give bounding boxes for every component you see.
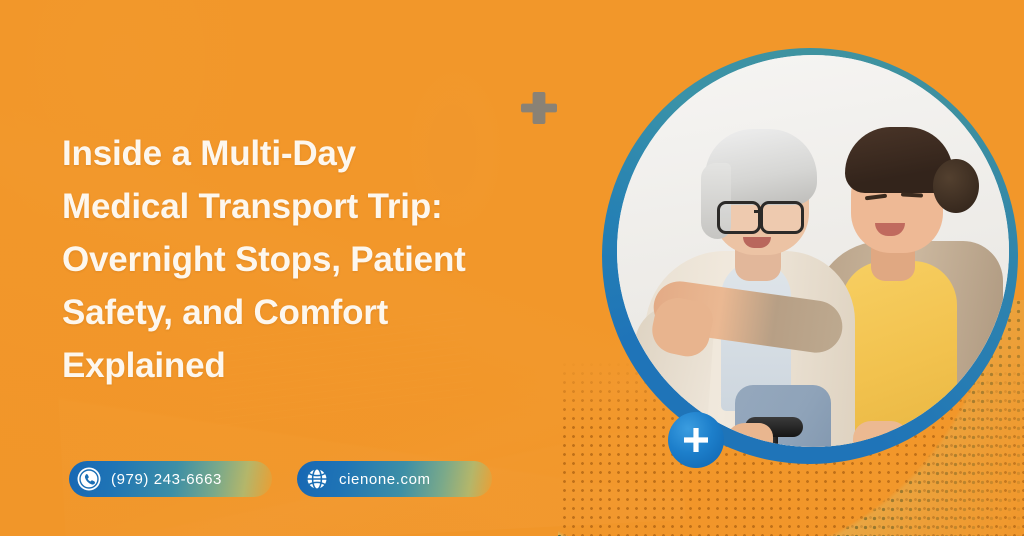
caregiver-and-senior-woman-photo xyxy=(617,55,1009,447)
eyeglass-lens-right xyxy=(760,201,804,234)
globe-icon xyxy=(304,466,330,492)
page-title: Inside a Multi-Day Medical Transport Tri… xyxy=(62,127,582,392)
contact-phone-label: (979) 243-6663 xyxy=(111,471,222,488)
plus-badge xyxy=(668,412,724,468)
young-woman-hair-bun xyxy=(933,159,979,213)
eyeglass-lens-left xyxy=(717,201,761,234)
contact-website-label: cienone.com xyxy=(339,471,431,488)
young-woman-top xyxy=(841,261,957,445)
joined-hands xyxy=(853,421,909,447)
senior-woman-hand-on-cane xyxy=(725,423,773,447)
plus-icon xyxy=(681,425,711,455)
eyeglass-bridge xyxy=(754,210,762,213)
plus-icon xyxy=(519,88,559,128)
contact-website-badge[interactable]: cienone.com xyxy=(297,461,492,497)
blog-banner: Inside a Multi-Day Medical Transport Tri… xyxy=(0,0,1024,536)
contact-phone-badge[interactable]: (979) 243-6663 xyxy=(69,461,272,497)
phone-icon xyxy=(76,466,102,492)
